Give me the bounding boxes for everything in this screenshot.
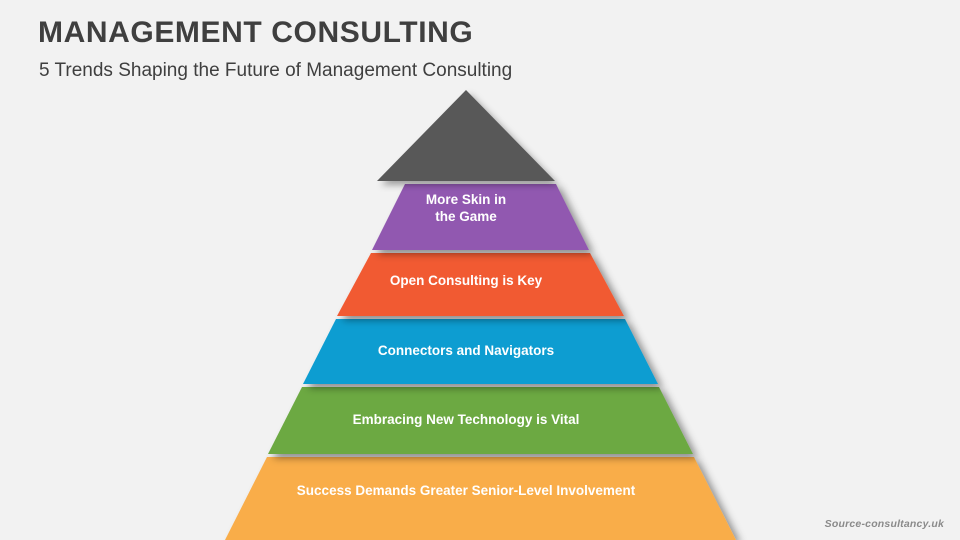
pyramid-level-5[interactable] — [225, 457, 736, 540]
slide-canvas: MANAGEMENT CONSULTING 5 Trends Shaping t… — [0, 0, 960, 540]
pyramid-level-3[interactable] — [303, 319, 658, 384]
pyramid-level-2[interactable] — [337, 253, 624, 316]
source-attribution: Source-consultancy.uk — [825, 518, 944, 530]
pyramid-level-1[interactable] — [372, 184, 589, 250]
pyramid-level-4[interactable] — [268, 387, 693, 454]
pyramid-diagram — [0, 0, 960, 540]
pyramid-apex[interactable] — [377, 90, 555, 181]
